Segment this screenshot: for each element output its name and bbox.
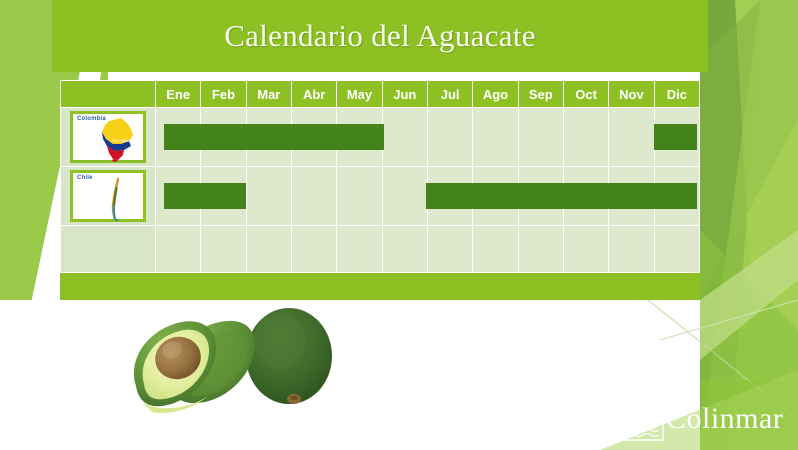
empty-cell-8 <box>473 226 518 273</box>
availability-calendar-table: Ene Feb Mar Abr May Jun Jul Ago Sep Oct … <box>60 80 700 273</box>
country-cell-empty <box>61 226 156 273</box>
empty-cell-3 <box>246 226 291 273</box>
country-cell-chile: Chile <box>61 167 156 226</box>
empty-cell-9 <box>518 226 563 273</box>
colombia-map-icon: COLOMBIA <box>91 115 141 163</box>
avocados-photo <box>112 296 362 422</box>
month-header-jul: Jul <box>427 81 472 108</box>
empty-cell-5 <box>337 226 382 273</box>
colombia-map-chip: Colombia COLOMBIA <box>70 111 146 163</box>
empty-cell-6 <box>382 226 427 273</box>
month-header-may: May <box>337 81 382 108</box>
month-header-nov: Nov <box>609 81 654 108</box>
table-header-row: Ene Feb Mar Abr May Jun Jul Ago Sep Oct … <box>61 81 700 108</box>
calendar-container: Ene Feb Mar Abr May Jun Jul Ago Sep Oct … <box>60 80 700 300</box>
month-header-oct: Oct <box>563 81 608 108</box>
empty-cell-4 <box>291 226 336 273</box>
page-title: Calendario del Aguacate <box>52 18 708 54</box>
month-header-mar: Mar <box>246 81 291 108</box>
month-header-jun: Jun <box>382 81 427 108</box>
empty-cell-10 <box>563 226 608 273</box>
chile-map-icon <box>91 174 141 222</box>
empty-cell-12 <box>654 226 699 273</box>
country-cell-colombia: Colombia COLOMBIA <box>61 108 156 167</box>
svg-text:COLOMBIA: COLOMBIA <box>112 139 131 143</box>
waves-square-icon <box>624 403 664 443</box>
month-header-dic: Dic <box>654 81 699 108</box>
table-row-chile: Chile <box>61 167 700 226</box>
month-header-feb: Feb <box>201 81 246 108</box>
empty-cell-11 <box>609 226 654 273</box>
logo-text: Colinmar <box>666 402 783 436</box>
availability-bar-chile-jul-dic <box>426 183 696 209</box>
month-header-ago: Ago <box>473 81 518 108</box>
empty-cell-2 <box>201 226 246 273</box>
brand-logo[interactable]: Colinmar <box>622 400 794 446</box>
empty-cell-7 <box>427 226 472 273</box>
availability-bar-colombia-ene-may <box>164 124 384 150</box>
table-row-colombia: Colombia COLOMBIA <box>61 108 700 167</box>
availability-cells-chile <box>156 167 700 226</box>
slide: Calendario del Aguacate Ene Feb Mar Abr … <box>0 0 798 450</box>
month-header-sep: Sep <box>518 81 563 108</box>
chile-map-chip: Chile <box>70 170 146 222</box>
table-row-empty <box>61 226 700 273</box>
empty-cell-1 <box>156 226 201 273</box>
header-corner-cell <box>61 81 156 108</box>
availability-cells-colombia <box>156 108 700 167</box>
month-header-abr: Abr <box>291 81 336 108</box>
month-header-ene: Ene <box>156 81 201 108</box>
availability-bar-colombia-dic <box>654 124 697 150</box>
availability-bar-chile-ene-feb <box>164 183 245 209</box>
